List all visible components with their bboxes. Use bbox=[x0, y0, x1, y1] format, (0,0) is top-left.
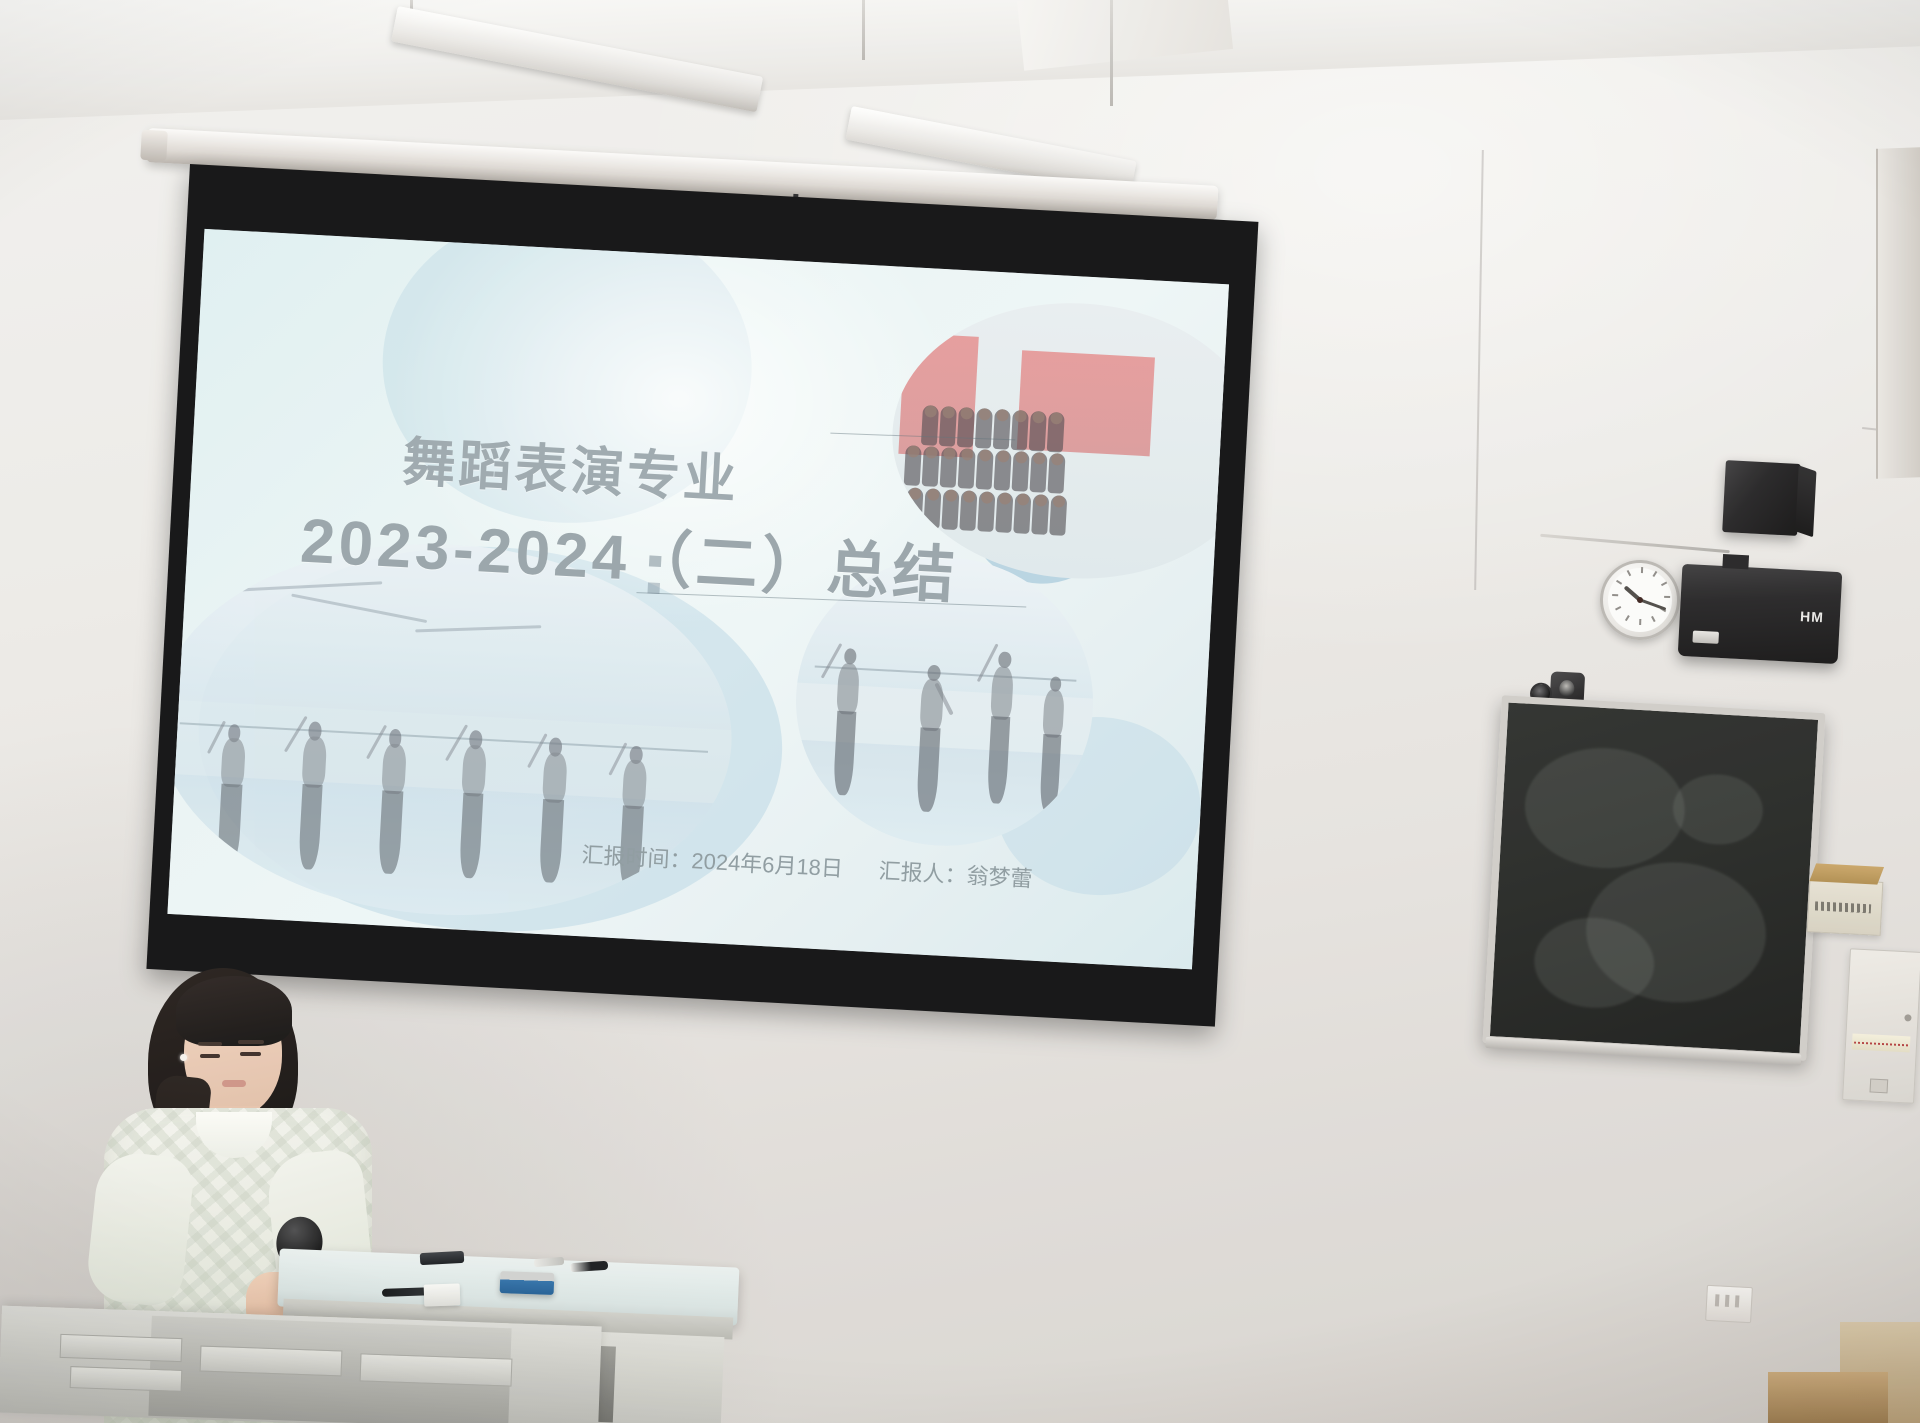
rack-panel bbox=[200, 1346, 343, 1377]
dancer-figure bbox=[974, 640, 1031, 809]
dancer-figure bbox=[442, 715, 509, 888]
panel-sticker bbox=[1870, 1078, 1889, 1093]
screen-surface: 舞蹈表演专业 2023-2024（二）总结 汇报时间：2024年6月18日 汇报… bbox=[167, 229, 1229, 969]
wall-outlet[interactable] bbox=[1705, 1285, 1753, 1323]
group-member bbox=[995, 492, 1013, 533]
wall-control-panel[interactable] bbox=[1842, 948, 1920, 1104]
slide-presenter-name: 汇报人：翁梦蕾 bbox=[878, 853, 1034, 893]
group-member bbox=[1029, 411, 1047, 452]
dancer-figure bbox=[820, 638, 876, 802]
group-member bbox=[1030, 452, 1048, 493]
presenter-hair-top bbox=[176, 976, 292, 1046]
group-member bbox=[959, 490, 977, 531]
group-member bbox=[1048, 453, 1066, 494]
dancer-figure bbox=[522, 723, 588, 893]
dancer-figure bbox=[902, 654, 961, 818]
speaker-brand-label: HM bbox=[1800, 608, 1825, 625]
group-member bbox=[939, 406, 957, 447]
dancer-figure bbox=[362, 714, 428, 884]
marker-pen[interactable] bbox=[420, 1251, 465, 1265]
group-member bbox=[905, 487, 923, 528]
door-frame bbox=[1876, 147, 1920, 479]
board-eraser[interactable] bbox=[500, 1271, 555, 1295]
speaker-side-panel bbox=[1795, 465, 1816, 537]
remote-control[interactable] bbox=[424, 1283, 461, 1306]
group-member bbox=[957, 407, 975, 448]
group-member bbox=[977, 491, 995, 532]
group-member bbox=[923, 488, 941, 529]
speaker-spec-label bbox=[1692, 631, 1719, 644]
wall-box-label bbox=[1815, 901, 1871, 913]
lamp-rod bbox=[1110, 0, 1113, 106]
speaker-bracket bbox=[1722, 554, 1749, 569]
projection-screen: 舞蹈表演专业 2023-2024（二）总结 汇报时间：2024年6月18日 汇报… bbox=[146, 164, 1258, 1027]
group-member bbox=[1031, 494, 1049, 535]
group-member bbox=[887, 486, 905, 527]
lamp-rod bbox=[862, 0, 865, 60]
group-member bbox=[1047, 412, 1065, 453]
group-member bbox=[922, 446, 940, 487]
dancer-figure bbox=[201, 709, 267, 875]
group-member bbox=[1011, 410, 1029, 451]
side-chair bbox=[1768, 1372, 1888, 1423]
rack-panel bbox=[70, 1366, 183, 1392]
rack-panel bbox=[360, 1353, 513, 1386]
group-member bbox=[993, 409, 1011, 450]
earring bbox=[180, 1054, 187, 1061]
presenter-mouth bbox=[222, 1080, 246, 1087]
group-member bbox=[994, 450, 1012, 491]
group-member bbox=[921, 405, 939, 446]
wall-speaker-main: HM bbox=[1678, 564, 1843, 664]
group-member bbox=[941, 489, 959, 530]
wall-box-open bbox=[1807, 878, 1884, 936]
camera-eye bbox=[1559, 680, 1575, 698]
wall-speaker-upper bbox=[1722, 460, 1801, 536]
screenshot-root: 舞蹈表演专业 2023-2024（二）总结 汇报时间：2024年6月18日 汇报… bbox=[0, 0, 1920, 1423]
dancer-figure bbox=[281, 706, 348, 879]
group-member bbox=[976, 449, 994, 490]
group-member bbox=[940, 447, 958, 488]
group-member bbox=[1012, 451, 1030, 492]
wall-box-lid bbox=[1809, 863, 1884, 884]
slide-content: 舞蹈表演专业 2023-2024（二）总结 汇报时间：2024年6月18日 汇报… bbox=[167, 229, 1229, 969]
group-member bbox=[1013, 493, 1031, 534]
screen-housing-cap bbox=[140, 130, 168, 161]
group-member bbox=[904, 445, 922, 486]
presenter-sleeve-left bbox=[84, 1149, 195, 1308]
group-member bbox=[958, 448, 976, 489]
group-member bbox=[1049, 495, 1067, 536]
rack-panel bbox=[60, 1334, 183, 1362]
blackboard bbox=[1483, 695, 1826, 1061]
dancer-figure bbox=[1028, 666, 1081, 818]
group-member bbox=[975, 408, 993, 449]
panel-knob[interactable] bbox=[1904, 1014, 1911, 1021]
